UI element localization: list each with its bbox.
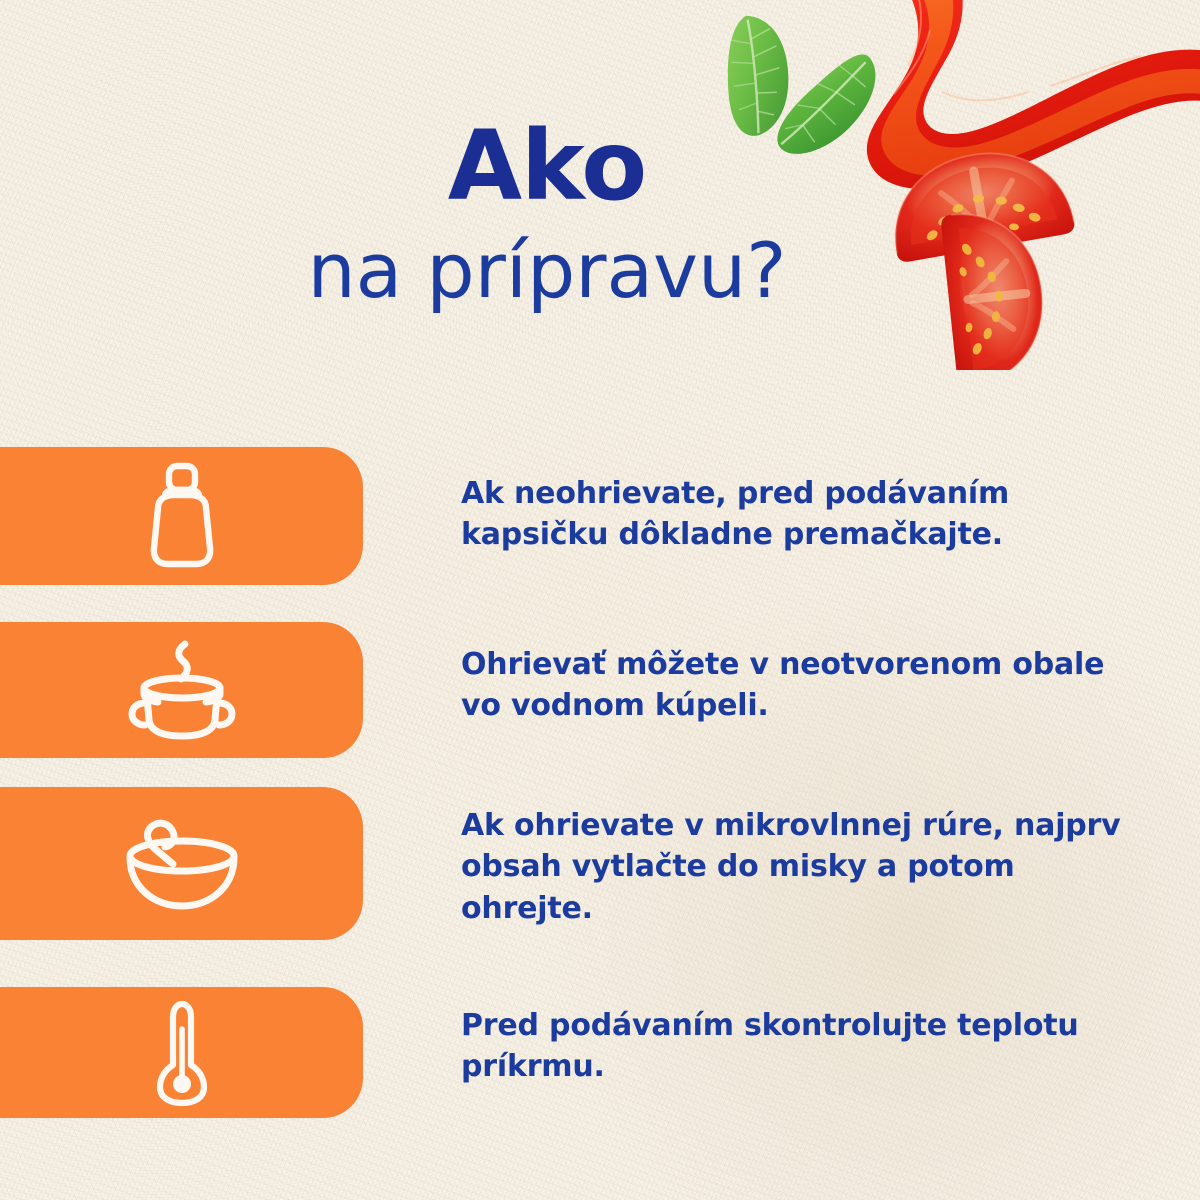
headline-main: Ako <box>0 118 1200 214</box>
headline-sub: na prípravu? <box>0 228 1200 313</box>
thermometer-icon <box>151 999 213 1107</box>
poster-canvas: Ako na prípravu? Ak neohrievate, pred po… <box>0 0 1200 1200</box>
preparation-steps-list: Ak neohrievate, pred podávaním kapsičku … <box>0 447 1200 1118</box>
step-icon-bar <box>0 987 363 1118</box>
step-icon-bar <box>0 787 363 940</box>
list-item: Ohrievať môžete v neotvorenom obale vo v… <box>0 622 1200 758</box>
food-pouch-icon <box>136 462 228 570</box>
list-item: Ak ohrievate v mikrovlnnej rúre, najprv … <box>0 787 1200 940</box>
step-text: Ak neohrievate, pred podávaním kapsičku … <box>363 447 1200 556</box>
steaming-pot-icon <box>127 638 237 742</box>
step-icon-bar <box>0 447 363 585</box>
step-icon-bar <box>0 622 363 758</box>
list-item: Ak neohrievate, pred podávaním kapsičku … <box>0 447 1200 585</box>
list-item: Pred podávaním skontrolujte teplotu prík… <box>0 987 1200 1118</box>
step-text: Ak ohrievate v mikrovlnnej rúre, najprv … <box>363 787 1200 929</box>
step-text: Pred podávaním skontrolujte teplotu prík… <box>363 987 1200 1088</box>
step-text: Ohrievať môžete v neotvorenom obale vo v… <box>363 622 1200 727</box>
page-title: Ako na prípravu? <box>0 118 1200 313</box>
bowl-with-spoon-icon <box>121 814 243 914</box>
